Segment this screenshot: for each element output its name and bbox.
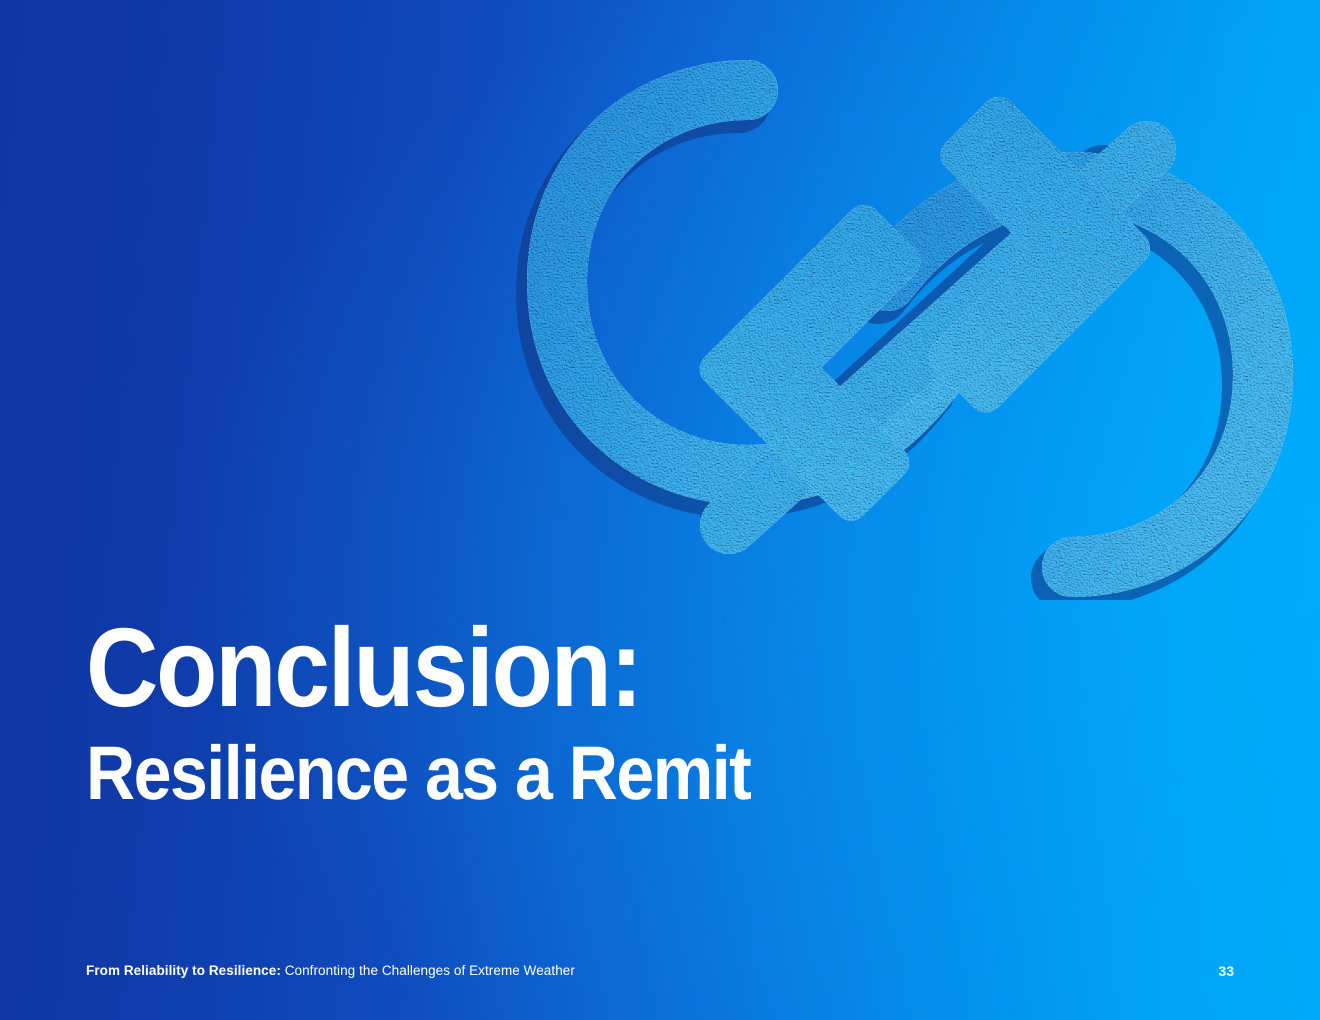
infinity-left-loop	[557, 90, 933, 475]
footer-document-title: From Reliability to Resilience: Confront…	[86, 960, 575, 982]
artwork-shadow-layer	[548, 101, 1254, 578]
footer-title-bold: From Reliability to Resilience:	[86, 963, 281, 978]
page-title-block: Conclusion: Resilience as a Remit	[86, 612, 986, 814]
page-title-secondary: Resilience as a Remit	[86, 734, 892, 814]
infinity-loop-arrows-graphic	[497, 55, 1320, 600]
arrow-up-right-head	[852, 114, 1133, 395]
footer: From Reliability to Resilience: Confront…	[0, 960, 1320, 982]
page-title-primary: Conclusion:	[86, 612, 892, 724]
infinity-diagonal-shaft	[729, 150, 1147, 525]
infinity-right-loop	[887, 182, 1263, 567]
arrow-down-left-head	[717, 222, 998, 503]
slide-root: Conclusion: Resilience as a Remit From R…	[0, 0, 1320, 1020]
footer-title-subtitle: Confronting the Challenges of Extreme We…	[281, 963, 575, 978]
page-number: 33	[1218, 960, 1234, 982]
